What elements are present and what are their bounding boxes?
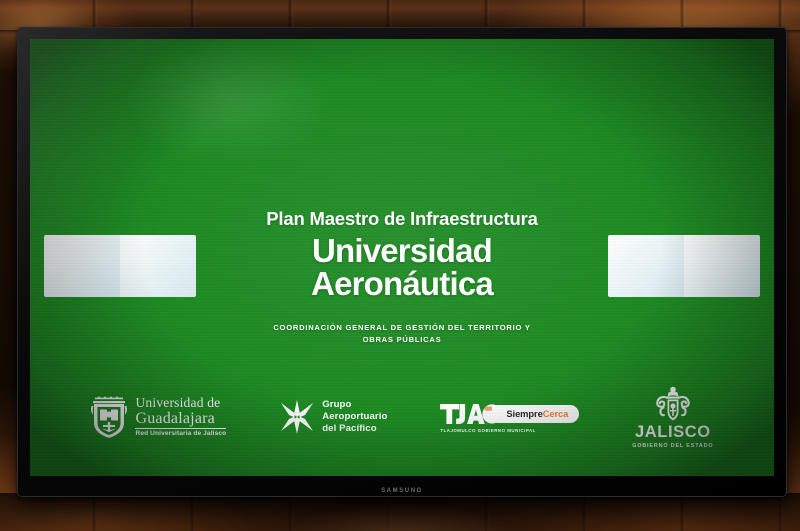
udg-line2: Guadalajara xyxy=(135,411,226,430)
compass-star-icon xyxy=(279,399,315,435)
logo-jalisco: JALISCO GOBIERNO DEL ESTADO xyxy=(632,385,713,449)
tlajomulco-subtitle: TLAJOMULCO GOBIERNO MUNICIPAL xyxy=(440,428,535,433)
jalisco-subtitle: GOBIERNO DEL ESTADO xyxy=(632,443,713,449)
slide-title-line1: Universidad xyxy=(312,232,492,269)
tlajomulco-wordmark-icon xyxy=(440,402,502,426)
gap-line1: Grupo xyxy=(322,399,387,411)
gap-wordmark: Grupo Aeroportuario del Pacífico xyxy=(322,399,387,435)
jalisco-name: JALISCO xyxy=(635,424,711,441)
slide-department-line1: COORDINACIÓN GENERAL DE GESTIÓN DEL TERR… xyxy=(273,323,530,332)
tv-brand-label: SAMSUNG xyxy=(18,488,786,494)
jalisco-coat-of-arms-icon xyxy=(652,385,694,423)
slide-title-line2: Aeronáutica xyxy=(30,268,774,300)
udg-line1: Universidad de xyxy=(135,396,226,410)
slide-logo-bar: Universidad de Guadalajara Red Universit… xyxy=(30,386,774,448)
tlajomulco-row: SiempreCerca xyxy=(440,402,579,426)
tlajomulco-badge-part2: Cerca xyxy=(543,408,569,419)
slide-title: Universidad Aeronáutica xyxy=(30,235,774,300)
slide-kicker: Plan Maestro de Infraestructura xyxy=(30,209,774,229)
gap-line3: del Pacífico xyxy=(322,423,387,435)
console-table xyxy=(0,493,800,531)
udg-wordmark: Universidad de Guadalajara Red Universit… xyxy=(135,396,226,438)
television: Plan Maestro de Infraestructura Universi… xyxy=(18,28,786,496)
udg-crest-icon xyxy=(90,395,128,439)
logo-grupo-aeroportuario-del-pacifico: Grupo Aeroportuario del Pacífico xyxy=(279,399,387,435)
gap-line2: Aeroportuario xyxy=(322,411,387,423)
room-background: Plan Maestro de Infraestructura Universi… xyxy=(0,0,800,531)
tlajomulco-badge-part1: Siempre xyxy=(506,408,542,419)
slide-department-line2: OBRAS PÚBLICAS xyxy=(30,334,774,346)
logo-universidad-de-guadalajara: Universidad de Guadalajara Red Universit… xyxy=(90,395,226,439)
slide-title-block: Plan Maestro de Infraestructura Universi… xyxy=(30,209,774,346)
logo-tlajomulco: SiempreCerca TLAJOMULCO GOBIERNO MUNICIP… xyxy=(440,402,579,433)
tlajomulco-badge: SiempreCerca xyxy=(489,405,579,423)
udg-line3: Red Universitaria de Jalisco xyxy=(135,431,226,438)
slide-department: COORDINACIÓN GENERAL DE GESTIÓN DEL TERR… xyxy=(30,322,774,346)
tv-screen: Plan Maestro de Infraestructura Universi… xyxy=(30,39,774,476)
